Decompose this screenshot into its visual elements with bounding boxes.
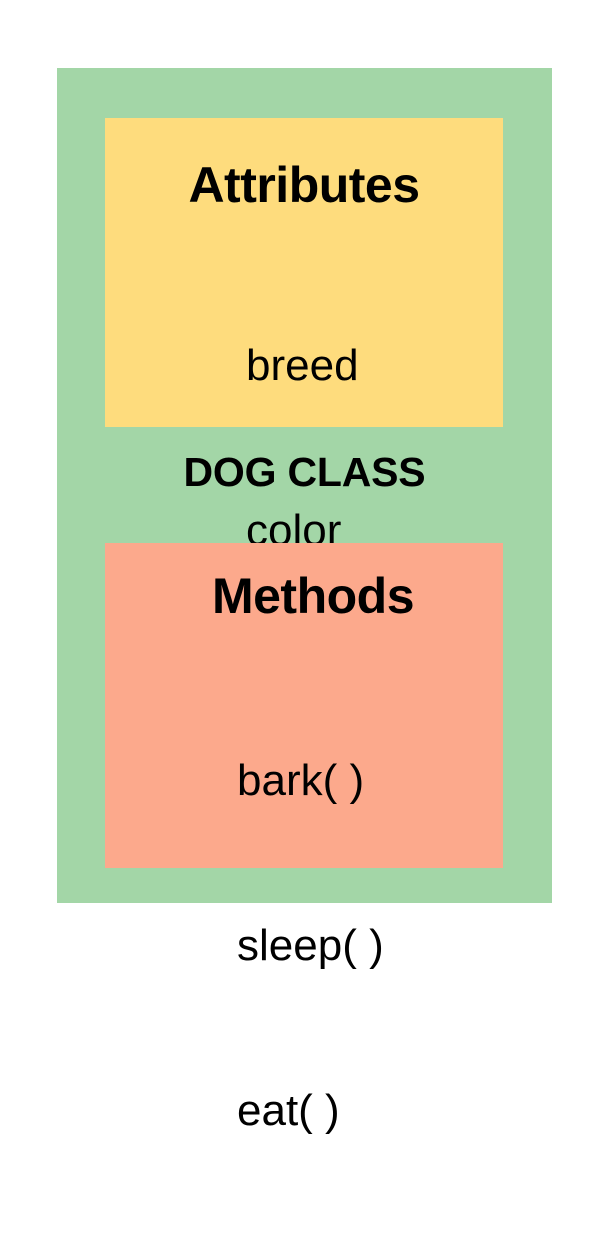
attributes-heading: Attributes xyxy=(105,160,503,210)
attributes-compartment: Attributes breed color age xyxy=(105,118,503,427)
methods-list: bark( ) sleep( ) eat( ) xyxy=(237,643,384,1248)
class-name-label: DOG CLASS xyxy=(57,452,552,493)
diagram-canvas: Attributes breed color age Methods bark(… xyxy=(0,0,608,972)
method-item-bark: bark( ) xyxy=(237,753,384,808)
attribute-item-breed: breed xyxy=(246,338,359,393)
method-item-sleep: sleep( ) xyxy=(237,918,384,973)
methods-compartment: Methods bark( ) sleep( ) eat( ) xyxy=(105,543,503,868)
method-item-eat: eat( ) xyxy=(237,1083,384,1138)
methods-heading: Methods xyxy=(105,571,503,621)
